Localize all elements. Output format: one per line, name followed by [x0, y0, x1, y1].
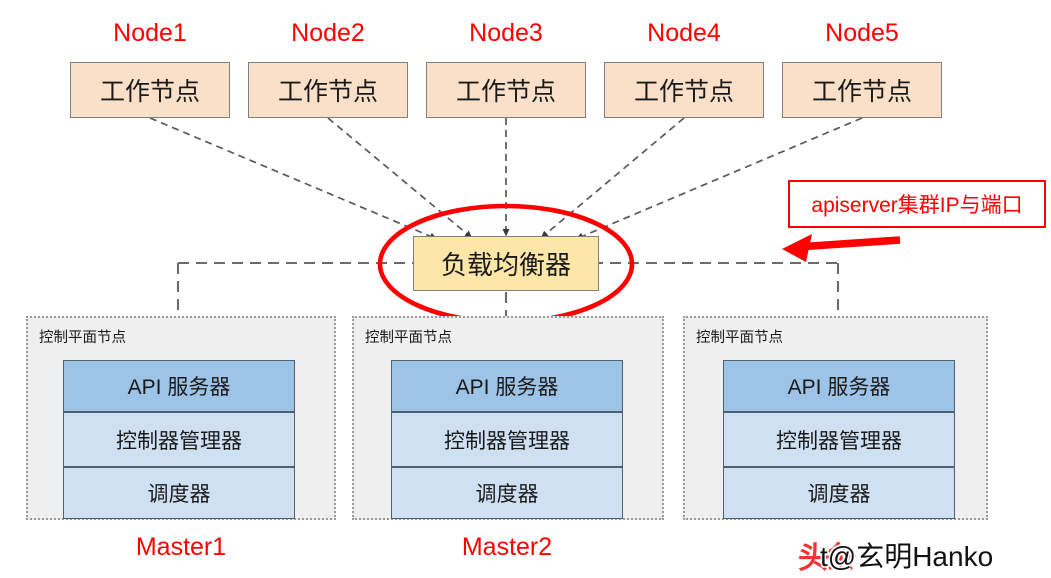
scheduler-box-1[interactable]: 调度器 — [63, 467, 295, 519]
node-label-4: Node4 — [604, 18, 764, 48]
node-label-3: Node3 — [426, 18, 586, 48]
worker-node-box-3[interactable]: 工作节点 — [426, 62, 586, 118]
api-server-box-2[interactable]: API 服务器 — [391, 360, 623, 412]
watermark: 头条 t@玄明Hanko — [798, 531, 1048, 573]
api-server-box-1[interactable]: API 服务器 — [63, 360, 295, 412]
node-label-5: Node5 — [782, 18, 942, 48]
node-label-2: Node2 — [248, 18, 408, 48]
watermark-handle: t@玄明Hanko — [820, 535, 993, 575]
worker-node-box-2[interactable]: 工作节点 — [248, 62, 408, 118]
controller-manager-box-1[interactable]: 控制器管理器 — [63, 412, 295, 467]
worker-node-box-1[interactable]: 工作节点 — [70, 62, 230, 118]
control-plane-title-2: 控制平面节点 — [365, 326, 452, 347]
worker-node-box-4[interactable]: 工作节点 — [604, 62, 764, 118]
controller-manager-box-2[interactable]: 控制器管理器 — [391, 412, 623, 467]
control-plane-title-3: 控制平面节点 — [696, 326, 783, 347]
api-server-box-3[interactable]: API 服务器 — [723, 360, 955, 412]
master-label-1: Master1 — [101, 532, 261, 562]
scheduler-box-2[interactable]: 调度器 — [391, 467, 623, 519]
master-label-2: Master2 — [427, 532, 587, 562]
node-label-1: Node1 — [70, 18, 230, 48]
apiserver-callout: apiserver集群IP与端口 — [788, 180, 1046, 228]
worker-node-box-5[interactable]: 工作节点 — [782, 62, 942, 118]
controller-manager-box-3[interactable]: 控制器管理器 — [723, 412, 955, 467]
diagram-canvas: Node1 Node2 Node3 Node4 Node5 工作节点 工作节点 … — [0, 0, 1051, 578]
control-plane-title-1: 控制平面节点 — [39, 326, 126, 347]
load-balancer-box[interactable]: 负载均衡器 — [413, 236, 599, 291]
scheduler-box-3[interactable]: 调度器 — [723, 467, 955, 519]
